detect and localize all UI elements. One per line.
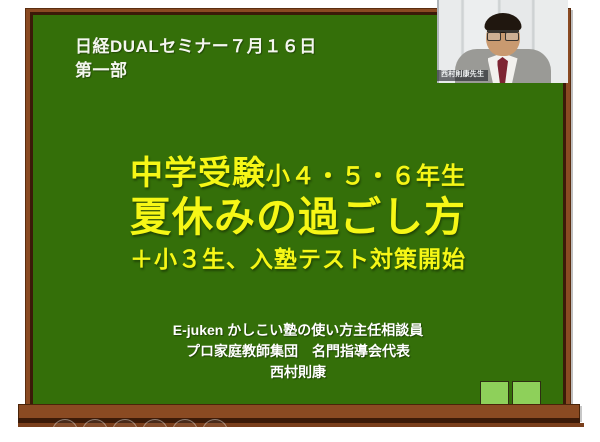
webcam-name-label: 西村則康先生 — [437, 70, 488, 81]
slide-header: 日経DUALセミナー７月１６日 第一部 — [75, 35, 317, 83]
zoom-button[interactable] — [142, 419, 168, 442]
pen-icon — [89, 426, 101, 438]
more-dots-icon — [208, 429, 222, 435]
title-subheading: ＋小３生、入塾テスト対策開始 — [33, 245, 563, 275]
play-icon — [60, 427, 70, 437]
play-button[interactable] — [52, 419, 78, 442]
slide-title: 中学受験小４・５・６年生 夏休みの過ごし方 ＋小３生、入塾テスト対策開始 — [33, 155, 563, 275]
title-line-1: 中学受験小４・５・６年生 — [33, 155, 563, 191]
more-button[interactable] — [202, 419, 228, 442]
chalkboard-eraser — [512, 381, 541, 405]
title-main-heading: 夏休みの過ごし方 — [33, 193, 563, 241]
credit-line-2: プロ家庭教師集団 名門指導会代表 — [33, 341, 563, 362]
seminar-part-line: 第一部 — [75, 59, 317, 83]
pen-button[interactable] — [82, 419, 108, 442]
presenter-credits: E-juken かしこい塾の使い方主任相談員 プロ家庭教師集団 名門指導会代表 … — [33, 320, 563, 383]
eraser-group — [480, 381, 541, 405]
chevron-left-icon — [37, 427, 46, 438]
slide-screen: 日経DUALセミナー７月１６日 第一部 中学受験小４・５・６年生 夏休みの過ごし… — [0, 0, 600, 442]
title-grade-label: 小４・５・６年生 — [266, 163, 466, 190]
magnifier-icon — [149, 426, 161, 438]
back-arrow-button[interactable] — [34, 419, 48, 442]
title-exam-label: 中学受験 — [130, 154, 266, 191]
presenter-glasses — [487, 30, 519, 37]
presenter-webcam-video[interactable]: 西村則康先生 — [437, 0, 568, 83]
eraser-button[interactable] — [172, 419, 198, 442]
chalkboard-eraser — [480, 381, 509, 405]
stamp-icon — [119, 426, 131, 438]
seminar-title-line: 日経DUALセミナー７月１６日 — [75, 35, 317, 59]
credit-line-3: 西村則康 — [33, 362, 563, 383]
stamp-button[interactable] — [112, 419, 138, 442]
credit-line-1: E-juken かしこい塾の使い方主任相談員 — [33, 320, 563, 341]
eraser-icon — [179, 426, 191, 438]
player-toolbar[interactable] — [30, 419, 230, 442]
